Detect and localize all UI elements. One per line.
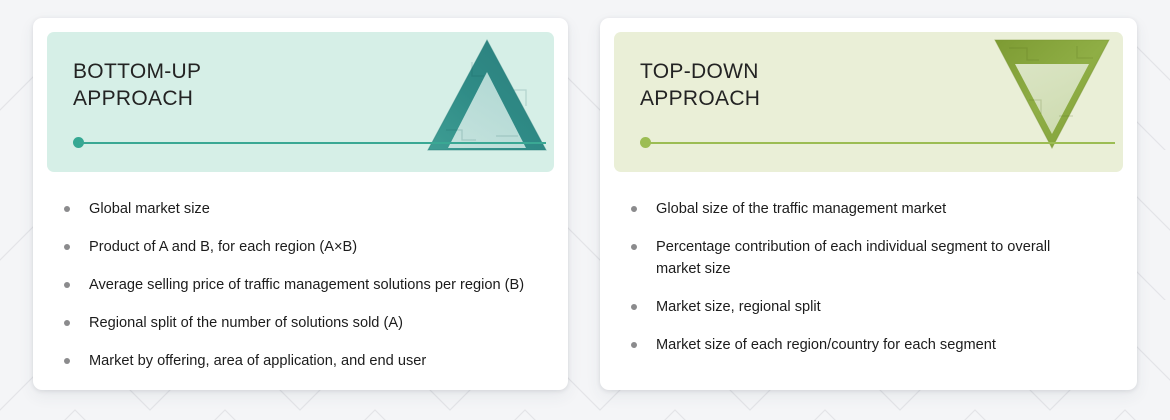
- list-item: Market size, regional split: [626, 296, 1115, 318]
- list-item: Average selling price of traffic managem…: [59, 274, 546, 296]
- list-item-label: Average selling price of traffic managem…: [89, 274, 524, 296]
- bullet-dot-icon: [631, 304, 637, 310]
- bullet-list-top-down: Global size of the traffic management ma…: [600, 172, 1137, 356]
- list-item: Global market size: [59, 198, 546, 220]
- list-item: Regional split of the number of solution…: [59, 312, 546, 334]
- list-item-label: Global size of the traffic management ma…: [656, 198, 946, 220]
- bullet-dot-icon: [64, 282, 70, 288]
- list-item: Percentage contribution of each individu…: [626, 236, 1115, 280]
- card-bottom-up: BOTTOM-UP APPROACH Global market size Pr…: [33, 18, 568, 390]
- bullet-dot-icon: [631, 206, 637, 212]
- bullet-list-bottom-up: Global market size Product of A and B, f…: [33, 172, 568, 372]
- card-header-bottom-up: BOTTOM-UP APPROACH: [47, 32, 554, 172]
- bullet-dot-icon: [631, 244, 637, 250]
- list-item: Global size of the traffic management ma…: [626, 198, 1115, 220]
- list-item-label: Market size, regional split: [656, 296, 821, 318]
- card-title-top-down: TOP-DOWN APPROACH: [640, 58, 760, 112]
- list-item-label: Product of A and B, for each region (A×B…: [89, 236, 357, 258]
- header-connector-bottom-up: [73, 137, 546, 149]
- approach-cards-container: BOTTOM-UP APPROACH Global market size Pr…: [0, 0, 1170, 420]
- bullet-dot-icon: [631, 342, 637, 348]
- bullet-dot-icon: [64, 206, 70, 212]
- list-item-label: Regional split of the number of solution…: [89, 312, 403, 334]
- downward-triangle-icon: [993, 38, 1111, 150]
- bullet-dot-icon: [64, 244, 70, 250]
- bullet-dot-icon: [64, 320, 70, 326]
- card-top-down: TOP-DOWN APPROACH Global size of the tra…: [600, 18, 1137, 390]
- connector-line-icon: [646, 142, 1115, 144]
- list-item: Market by offering, area of application,…: [59, 350, 546, 372]
- card-header-top-down: TOP-DOWN APPROACH: [614, 32, 1123, 172]
- list-item-label: Global market size: [89, 198, 210, 220]
- list-item-label: Percentage contribution of each individu…: [656, 236, 1056, 280]
- header-connector-top-down: [640, 137, 1115, 149]
- card-title-bottom-up: BOTTOM-UP APPROACH: [73, 58, 201, 112]
- list-item: Market size of each region/country for e…: [626, 334, 1115, 356]
- list-item-label: Market size of each region/country for e…: [656, 334, 996, 356]
- bullet-dot-icon: [64, 358, 70, 364]
- connector-line-icon: [79, 142, 546, 144]
- list-item-label: Market by offering, area of application,…: [89, 350, 426, 372]
- list-item: Product of A and B, for each region (A×B…: [59, 236, 546, 258]
